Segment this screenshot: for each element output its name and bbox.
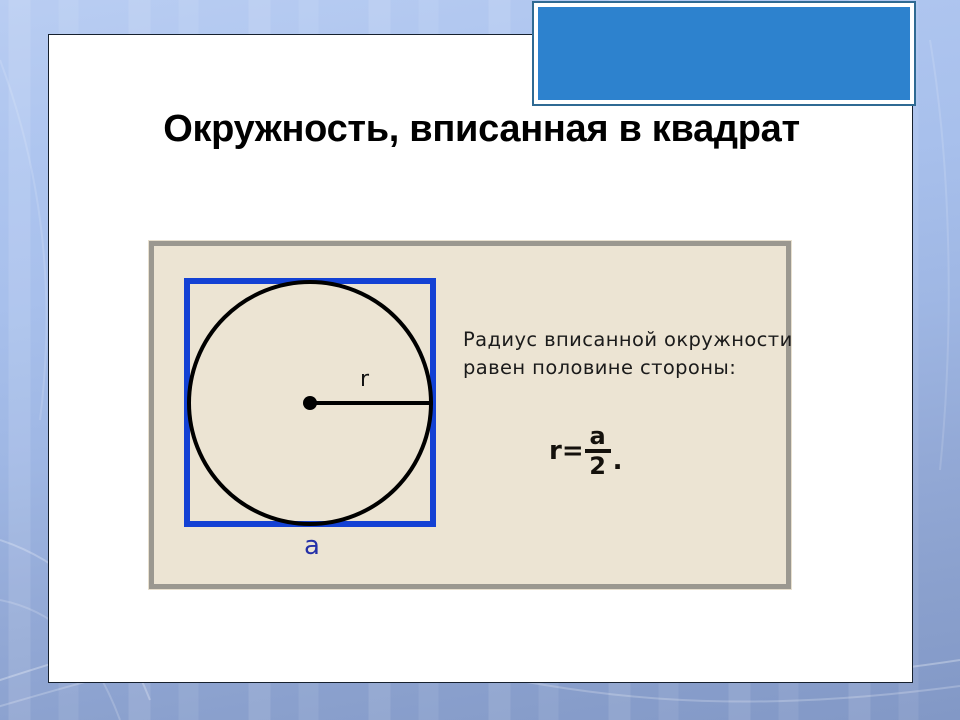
formula-lhs: r=: [549, 436, 584, 466]
slide-canvas: Окружность, вписанная в квадрат r a Ради…: [0, 0, 960, 720]
explanation-text: Радиус вписанной окружности равен полови…: [463, 326, 793, 381]
radius-formula: r= a 2 .: [549, 424, 623, 478]
banner-fill: [538, 7, 910, 100]
formula-fraction: a 2: [585, 424, 611, 478]
geometry-drawing: [154, 246, 786, 584]
page-title: Окружность, вписанная в квадрат: [49, 104, 914, 155]
side-label: a: [304, 531, 320, 561]
formula-numerator: a: [586, 424, 610, 449]
decorative-blue-banner: [532, 1, 916, 106]
radius-label: r: [360, 367, 369, 392]
inscribed-circle-figure: r a Радиус вписанной окружности равен по…: [149, 241, 791, 589]
formula-period: .: [611, 446, 623, 478]
center-point: [303, 396, 317, 410]
formula-denominator: 2: [585, 453, 610, 478]
slide-content-card: Окружность, вписанная в квадрат r a Ради…: [48, 34, 913, 683]
